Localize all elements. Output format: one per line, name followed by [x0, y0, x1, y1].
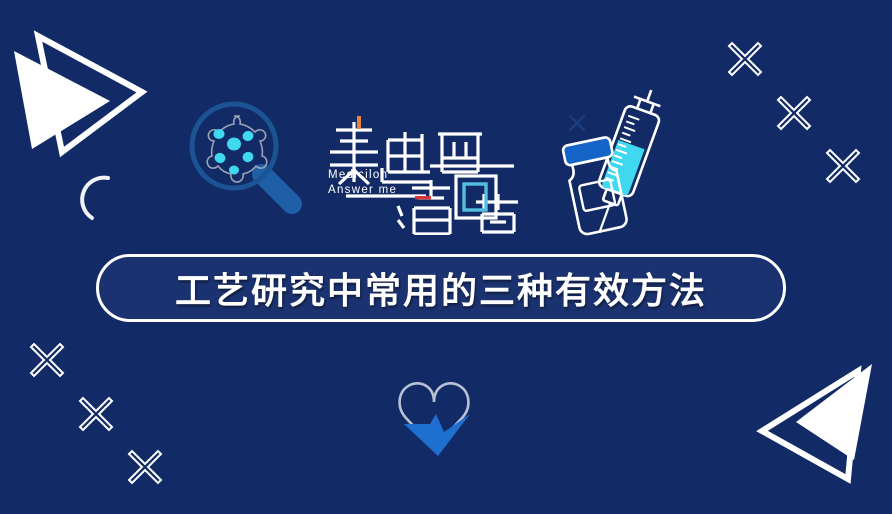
- logo-accent-red: [415, 196, 431, 199]
- logo-latin-line-2: Answer me: [328, 183, 397, 198]
- cross-bottom-left-1: [24, 337, 70, 388]
- faint-cross-icon: [570, 116, 584, 130]
- cross-bottom-left-2: [73, 391, 119, 442]
- magnifier-handle: [262, 174, 292, 204]
- triangle-bottom-right-solid: [790, 360, 892, 475]
- magnifier-virus-icon: [182, 96, 310, 223]
- logo-accent-orange: [357, 116, 361, 129]
- syringe-vial-icon: [552, 82, 678, 247]
- cross-top-right-3: [820, 143, 866, 194]
- cross-top-right-2: [771, 90, 817, 141]
- arc-left: [78, 172, 112, 229]
- cross-bottom-left-3: [122, 444, 168, 495]
- triangle-top-left-solid: [0, 45, 120, 160]
- page-title: 工艺研究中常用的三种有效方法: [175, 262, 707, 314]
- heart-check-icon: [386, 376, 484, 465]
- logo-latin-text: Medicilon Answer me: [328, 168, 397, 198]
- logo-latin-line-1: Medicilon: [328, 168, 397, 183]
- medicilon-answer-me-logo: Medicilon Answer me: [326, 110, 521, 235]
- cross-top-right-1: [722, 36, 768, 87]
- banner-canvas: Medicilon Answer me 工艺研究中常用的三种有效方法: [0, 0, 892, 514]
- title-pill: 工艺研究中常用的三种有效方法: [96, 254, 786, 322]
